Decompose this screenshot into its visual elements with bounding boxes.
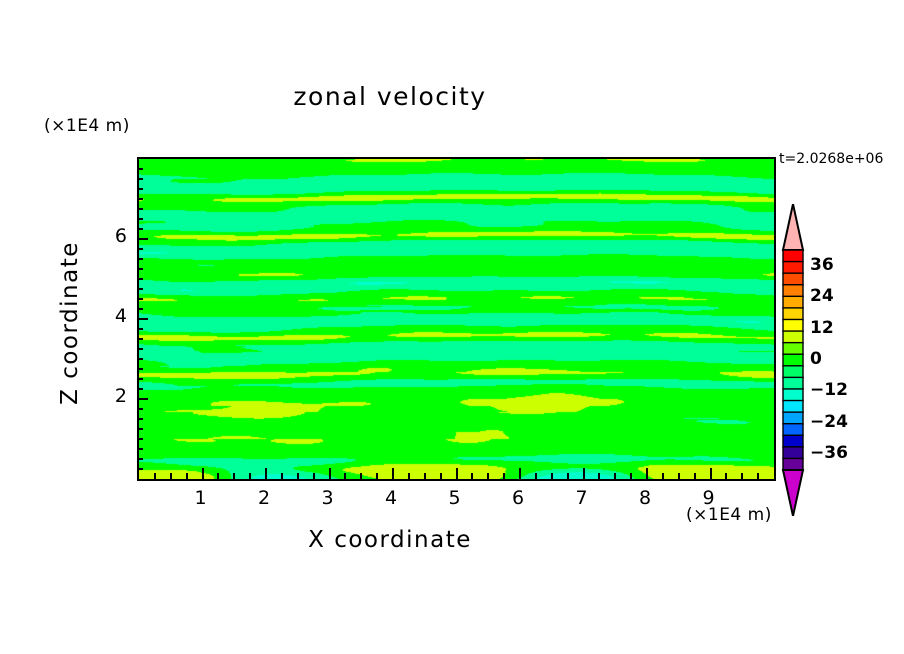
zonal-velocity-field — [139, 159, 774, 479]
y-tick-minor — [137, 338, 143, 340]
x-tick-minor — [598, 473, 600, 479]
y-tick-minor — [137, 468, 143, 470]
page-title: zonal velocity — [0, 82, 780, 111]
y-axis-units-label: (×1E4 m) — [44, 116, 130, 136]
colorbar-tick-label: 36 — [810, 255, 834, 275]
y-tick-minor — [137, 198, 143, 200]
y-tick-minor — [137, 418, 143, 420]
x-tick-minor — [313, 473, 315, 479]
x-tick-minor — [678, 473, 680, 479]
y-tick-minor — [137, 258, 143, 260]
y-tick-minor — [137, 278, 143, 280]
x-tick-label: 7 — [562, 487, 602, 509]
y-tick-minor — [137, 368, 143, 370]
x-tick-minor — [408, 473, 410, 479]
x-tick-minor — [186, 473, 188, 479]
y-tick-minor — [137, 438, 143, 440]
y-tick-minor — [137, 248, 143, 250]
y-tick-minor — [137, 408, 143, 410]
x-tick-minor — [281, 473, 283, 479]
x-tick-minor — [170, 473, 172, 479]
x-tick-label: 9 — [689, 487, 729, 509]
y-tick-minor — [137, 348, 143, 350]
x-tick-minor — [471, 473, 473, 479]
y-tick-minor — [137, 228, 143, 230]
x-tick-minor — [567, 473, 569, 479]
y-tick-label: 6 — [87, 225, 127, 247]
x-tick-minor — [614, 473, 616, 479]
colorbar-tick-label: −24 — [810, 412, 848, 432]
colorbar-tick-label: 12 — [810, 318, 834, 338]
y-tick-minor — [137, 168, 143, 170]
x-tick-minor — [694, 473, 696, 479]
colorbar-swatches — [781, 204, 805, 516]
x-tick-label: 2 — [244, 487, 284, 509]
x-tick-minor — [154, 473, 156, 479]
colorbar-tick-label: 24 — [810, 286, 834, 306]
y-tick-major — [137, 398, 148, 400]
y-tick-major — [137, 318, 148, 320]
x-tick-minor — [297, 473, 299, 479]
x-tick-label: 3 — [308, 487, 348, 509]
x-tick-minor — [376, 473, 378, 479]
contour-plot-area — [137, 157, 776, 481]
x-tick-minor — [662, 473, 664, 479]
x-tick-minor — [551, 473, 553, 479]
x-tick-label: 8 — [625, 487, 665, 509]
x-tick-label: 6 — [498, 487, 538, 509]
x-tick-minor — [217, 473, 219, 479]
y-tick-label: 2 — [87, 385, 127, 407]
y-tick-minor — [137, 268, 143, 270]
y-tick-minor — [137, 428, 143, 430]
colorbar-tick-label: −12 — [810, 380, 848, 400]
x-tick-major — [329, 468, 331, 479]
y-axis-title: Z coordinate — [57, 223, 83, 423]
x-tick-minor — [344, 473, 346, 479]
x-tick-major — [583, 468, 585, 479]
x-tick-minor — [757, 473, 759, 479]
x-tick-major — [202, 468, 204, 479]
x-tick-major — [265, 468, 267, 479]
x-tick-minor — [741, 473, 743, 479]
x-tick-minor — [440, 473, 442, 479]
x-tick-major — [456, 468, 458, 479]
y-tick-minor — [137, 328, 143, 330]
y-tick-minor — [137, 448, 143, 450]
time-annotation: t=2.0268e+06 — [779, 151, 883, 167]
colorbar-tick-label: 0 — [810, 349, 822, 369]
x-tick-minor — [535, 473, 537, 479]
x-axis-title: X coordinate — [0, 527, 780, 553]
x-tick-major — [392, 468, 394, 479]
y-tick-minor — [137, 388, 143, 390]
x-tick-label: 4 — [371, 487, 411, 509]
x-tick-label: 1 — [181, 487, 221, 509]
x-tick-label: 5 — [435, 487, 475, 509]
x-tick-major — [710, 468, 712, 479]
y-tick-minor — [137, 218, 143, 220]
y-tick-minor — [137, 358, 143, 360]
y-tick-minor — [137, 458, 143, 460]
x-tick-minor — [360, 473, 362, 479]
x-tick-minor — [249, 473, 251, 479]
x-tick-minor — [503, 473, 505, 479]
y-tick-minor — [137, 298, 143, 300]
x-tick-minor — [725, 473, 727, 479]
x-tick-major — [646, 468, 648, 479]
x-tick-major — [519, 468, 521, 479]
y-tick-minor — [137, 308, 143, 310]
x-tick-minor — [630, 473, 632, 479]
y-tick-minor — [137, 208, 143, 210]
x-tick-minor — [487, 473, 489, 479]
y-tick-minor — [137, 178, 143, 180]
y-tick-minor — [137, 188, 143, 190]
y-tick-label: 4 — [87, 305, 127, 327]
x-tick-minor — [424, 473, 426, 479]
colorbar — [781, 204, 805, 516]
y-tick-minor — [137, 378, 143, 380]
x-tick-minor — [233, 473, 235, 479]
y-tick-minor — [137, 288, 143, 290]
colorbar-tick-label: −36 — [810, 443, 848, 463]
y-tick-major — [137, 238, 148, 240]
